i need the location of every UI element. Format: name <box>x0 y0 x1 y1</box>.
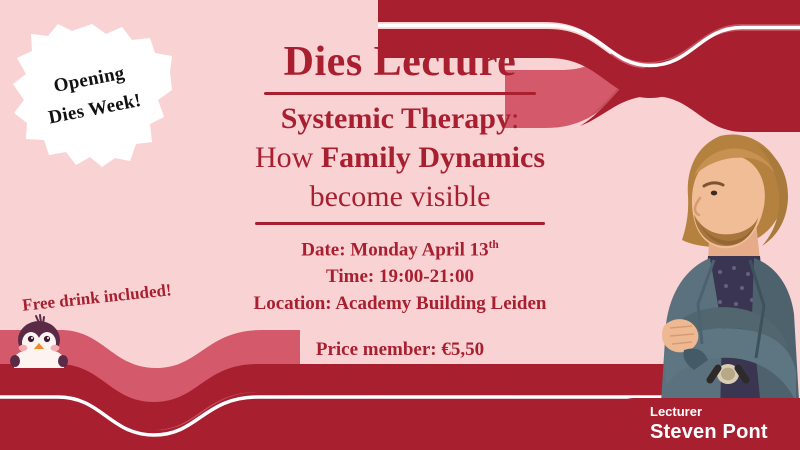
event-date-superscript: th <box>489 239 499 251</box>
opening-badge-text: Opening Dies Week! <box>0 8 184 181</box>
title-divider <box>264 92 536 95</box>
opening-badge: Opening Dies Week! <box>12 22 172 167</box>
poster-canvas: Opening Dies Week! Free drink included! … <box>0 0 800 450</box>
subtitle-colon: : <box>511 102 519 135</box>
event-location: Location: Academy Building Leiden <box>180 291 620 318</box>
free-drink-note: Free drink included! <box>21 280 172 316</box>
subtitle-line-2: How Family Dynamics <box>180 138 620 177</box>
subtitle-divider <box>255 222 545 225</box>
lecturer-banner: Lecturer Steven Pont <box>608 398 800 450</box>
price-member: Price member: €5,50 <box>180 334 620 366</box>
lecturer-role: Lecturer <box>650 404 800 420</box>
penguin-icon <box>6 312 72 374</box>
event-date-text: Date: Monday April 13 <box>301 239 488 260</box>
lecturer-name: Steven Pont <box>650 420 800 444</box>
price-non-member: Price non member: €8,00 <box>180 366 620 398</box>
subtitle-line-3: become visible <box>180 177 620 216</box>
main-content: Dies Lecture Systemic Therapy: How Famil… <box>180 40 620 398</box>
subtitle-how: How <box>255 141 321 174</box>
page-title: Dies Lecture <box>180 40 620 85</box>
lecturer-portrait-icon <box>624 118 800 418</box>
price-block: Price member: €5,50 Price non member: €8… <box>180 334 620 399</box>
event-details: Date: Monday April 13th Time: 19:00-21:0… <box>180 237 620 318</box>
event-time: Time: 19:00-21:00 <box>180 264 620 291</box>
subtitle-family-dynamics: Family Dynamics <box>321 141 545 174</box>
subtitle-become-visible: become visible <box>310 180 491 213</box>
event-date: Date: Monday April 13th <box>180 237 620 264</box>
subtitle-line-1: Systemic Therapy: <box>180 99 620 138</box>
subtitle-systemic-therapy: Systemic Therapy <box>281 102 511 135</box>
lecturer-photo <box>624 118 800 418</box>
